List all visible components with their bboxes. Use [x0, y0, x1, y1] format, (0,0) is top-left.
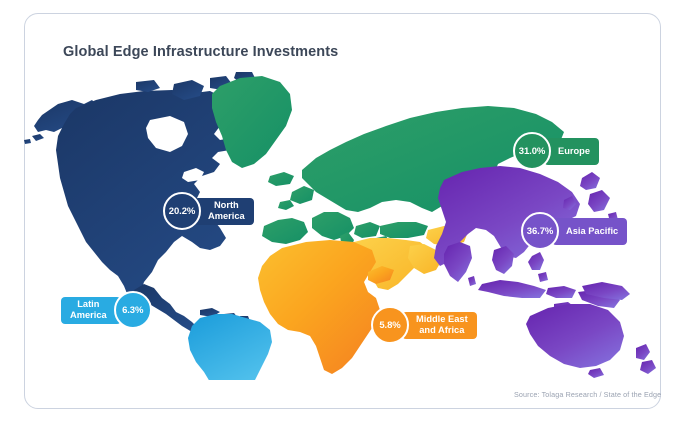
region-asia-pacific [434, 166, 656, 378]
value-badge-latin-america: 6.3% [114, 291, 152, 329]
callout-north-america[interactable]: 20.2% North America [163, 192, 254, 230]
region-label-asia-pacific: Asia Pacific [552, 218, 627, 245]
callout-latin-america[interactable]: Latin America 6.3% [61, 291, 152, 329]
region-latin-america [188, 314, 272, 380]
source-attribution: Source: Tolaga Research / State of the E… [514, 390, 661, 399]
region-label-latin-america: Latin America [61, 297, 121, 324]
value-badge-middle-east-africa: 5.8% [371, 306, 409, 344]
page-title: Global Edge Infrastructure Investments [63, 44, 338, 60]
callout-asia-pacific[interactable]: 36.7% Asia Pacific [521, 212, 627, 250]
region-label-north-america: North America [194, 198, 254, 225]
screenshot-root: Global Edge Infrastructure Investments S… [0, 0, 685, 423]
callout-middle-east-africa[interactable]: 5.8% Middle East and Africa [371, 306, 477, 344]
region-label-europe: Europe [544, 138, 599, 165]
value-badge-north-america: 20.2% [163, 192, 201, 230]
value-badge-europe: 31.0% [513, 132, 551, 170]
region-label-middle-east-africa: Middle East and Africa [402, 312, 477, 339]
callout-europe[interactable]: 31.0% Europe [513, 132, 599, 170]
value-badge-asia-pacific: 36.7% [521, 212, 559, 250]
